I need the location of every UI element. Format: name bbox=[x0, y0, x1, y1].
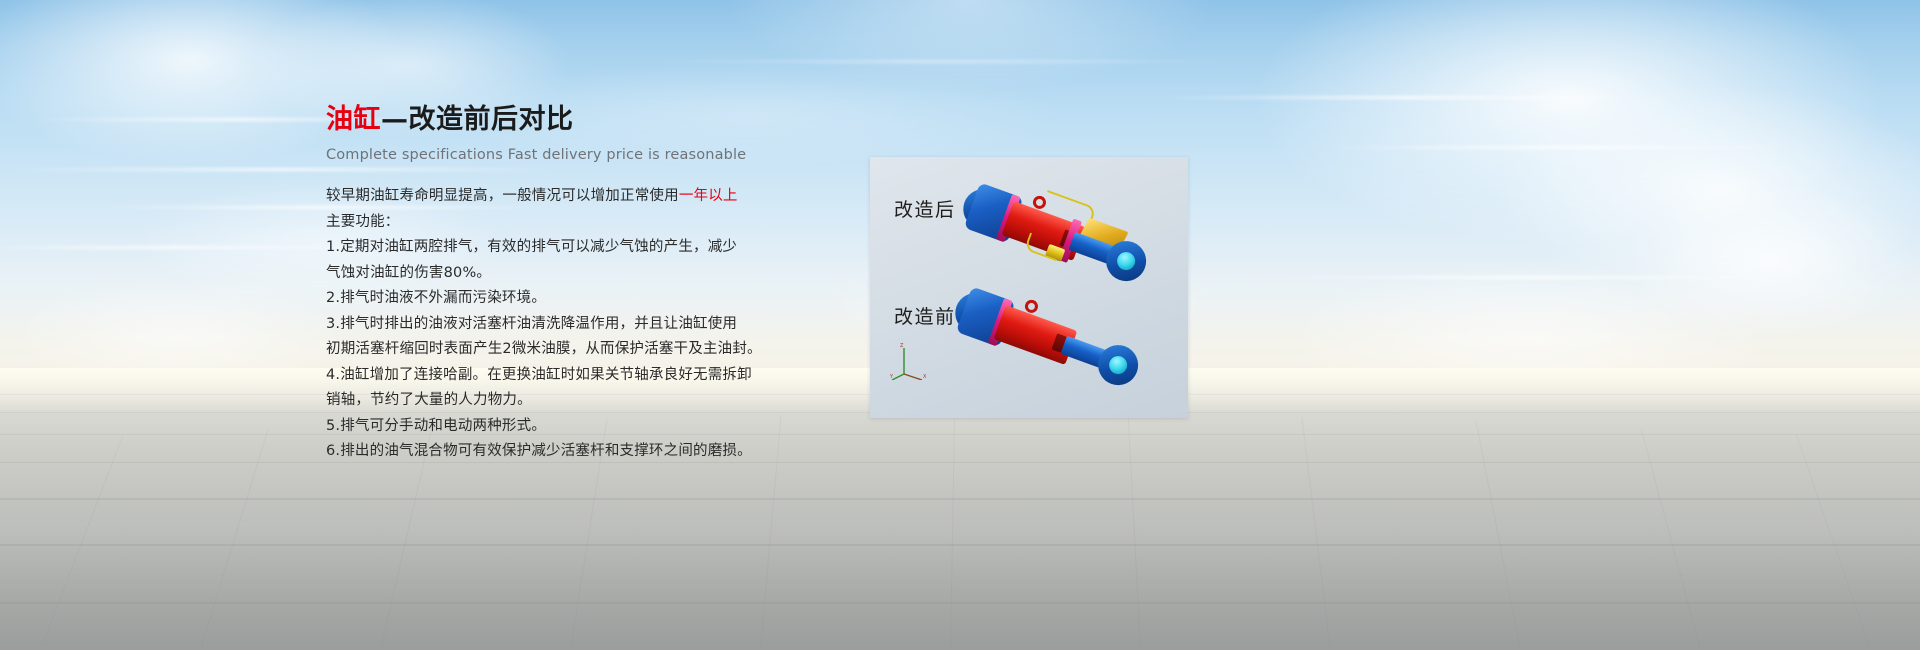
body-line-text: 较早期油缸寿命明显提高，一般情况可以增加正常使用 bbox=[326, 188, 679, 204]
feature-list: 较早期油缸寿命明显提高，一般情况可以增加正常使用一年以上 主要功能： 1.定期对… bbox=[326, 184, 846, 465]
svg-text:Z: Z bbox=[900, 343, 904, 349]
label-after-modification: 改造后 bbox=[894, 195, 956, 222]
page-subtitle: Complete specifications Fast delivery pr… bbox=[326, 147, 846, 163]
hero-banner: 油缸—改造前后对比 Complete specifications Fast d… bbox=[0, 0, 1920, 650]
body-line: 较早期油缸寿命明显提高，一般情况可以增加正常使用一年以上 bbox=[326, 184, 846, 210]
page-title-highlight: 油缸 bbox=[326, 104, 381, 135]
body-line: 1.定期对油缸两腔排气，有效的排气可以减少气蚀的产生，减少 bbox=[326, 235, 846, 261]
svg-text:X: X bbox=[923, 374, 927, 380]
cloud-wisp bbox=[1230, 276, 1830, 279]
body-line: 主要功能： bbox=[326, 210, 846, 236]
axis-triad-icon: Z X Y bbox=[890, 340, 930, 380]
banner-text-block: 油缸—改造前后对比 Complete specifications Fast d… bbox=[326, 104, 846, 465]
body-line: 气蚀对油缸的伤害80%。 bbox=[326, 261, 846, 287]
cloud-wisp bbox=[1320, 146, 1800, 149]
cloud-wisp bbox=[1150, 96, 1670, 99]
product-comparison-panel: 改造后 改造前 bbox=[870, 157, 1188, 418]
body-line: 4.油缸增加了连接哈副。在更换油缸时如果关节轴承良好无需拆卸 bbox=[326, 363, 846, 389]
cloud-shape bbox=[1120, 0, 1920, 310]
cylinder-barrel bbox=[994, 305, 1078, 365]
cloud-shape bbox=[1560, 150, 1920, 370]
page-title-rest: —改造前后对比 bbox=[381, 104, 574, 135]
cloud-shape bbox=[1400, 40, 1920, 340]
body-line-emphasis: 一年以上 bbox=[679, 188, 738, 204]
body-line: 3.排气时排出的油液对活塞杆油清洗降温作用，并且让油缸使用 bbox=[326, 312, 846, 338]
cloud-wisp bbox=[640, 60, 1240, 63]
body-line: 初期活塞杆缩回时表面产生2微米油膜，从而保护活塞干及主油封。 bbox=[326, 337, 846, 363]
body-line: 销轴，节约了大量的人力物力。 bbox=[326, 388, 846, 414]
body-line: 6.排出的油气混合物可有效保护减少活塞杆和支撑环之间的磨损。 bbox=[326, 439, 846, 465]
label-before-modification: 改造前 bbox=[894, 302, 956, 329]
body-line: 2.排气时油液不外漏而污染环境。 bbox=[326, 286, 846, 312]
page-title: 油缸—改造前后对比 bbox=[326, 104, 846, 136]
body-line: 5.排气可分手动和电动两种形式。 bbox=[326, 414, 846, 440]
